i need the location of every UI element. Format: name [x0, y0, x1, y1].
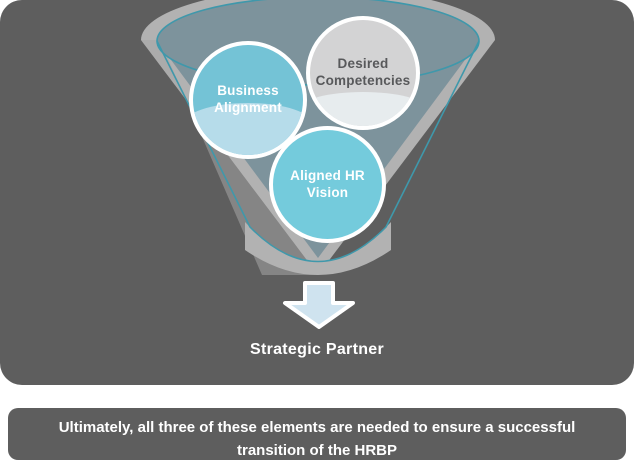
bubble-desired-competencies[interactable]: Desired Competencies [306, 16, 420, 130]
bubble-business-alignment[interactable]: Business Alignment [189, 41, 307, 159]
strategic-partner-label: Strategic Partner [0, 341, 634, 359]
diagram-panel: Business Alignment Desired Competencies … [0, 0, 634, 385]
summary-line-1: Ultimately, all three of these elements … [59, 419, 576, 436]
summary-line-2: transition of the HRBP [237, 442, 397, 459]
bubble-competencies-label: Desired Competencies [310, 56, 417, 90]
bubble-vision-label: Aligned HR Vision [284, 168, 371, 202]
summary-banner: Ultimately, all three of these elements … [8, 408, 626, 460]
bubble-competencies-wash [306, 92, 420, 130]
down-arrow-icon [281, 281, 357, 329]
bubble-business-label: Business Alignment [208, 83, 288, 117]
